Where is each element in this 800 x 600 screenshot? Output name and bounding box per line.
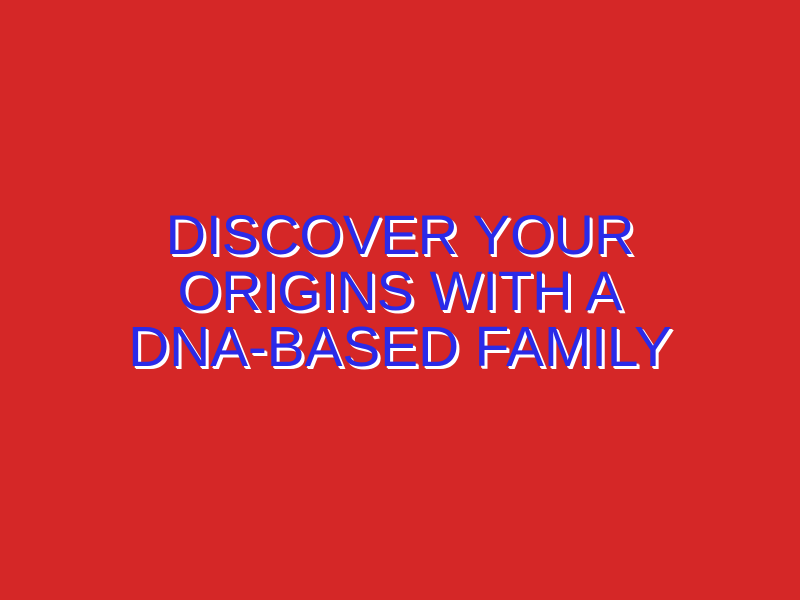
headline-line-3: DNA-BASED FAMILY — [0, 319, 800, 375]
headline-line-2: ORIGINS WITH A — [0, 263, 800, 319]
headline-block: DISCOVER YOUR ORIGINS WITH A DNA-BASED F… — [0, 0, 800, 600]
headline-line-1: DISCOVER YOUR — [0, 207, 800, 263]
slide-canvas: DISCOVER YOUR ORIGINS WITH A DNA-BASED F… — [0, 0, 800, 600]
